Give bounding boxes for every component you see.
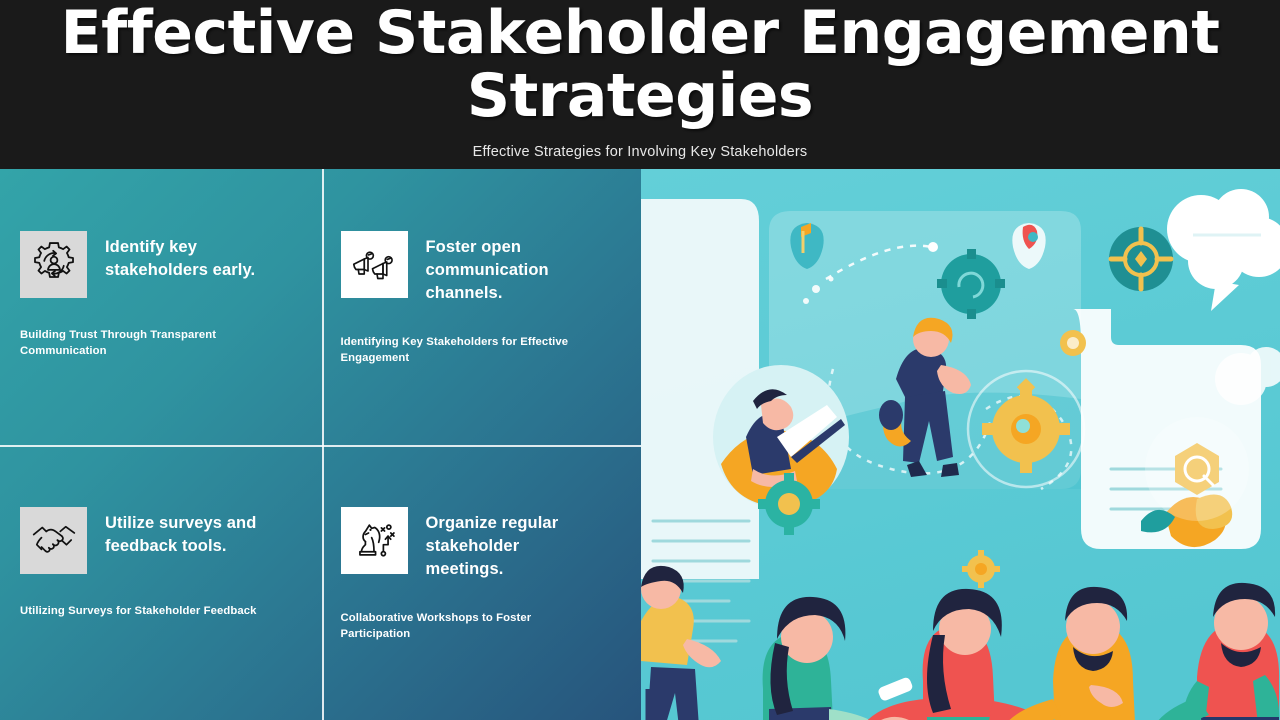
handshake-icon	[20, 507, 87, 574]
card-header-row: Utilize surveys and feedback tools.	[20, 507, 299, 574]
card-header-row: Organize regular stakeholder meetings.	[341, 507, 620, 581]
strategy-card-2[interactable]: Foster open communication channels. Iden…	[321, 169, 642, 445]
page-title: Effective Stakeholder Engagement Strateg…	[50, 2, 1230, 128]
card-caption: Utilizing Surveys for Stakeholder Feedba…	[20, 603, 270, 619]
card-title: Identify key stakeholders early.	[105, 231, 285, 282]
card-title: Organize regular stakeholder meetings.	[426, 507, 586, 581]
card-header-row: Foster open communication channels.	[341, 231, 620, 305]
chess-knight-strategy-icon	[341, 507, 408, 574]
stakeholder-collaboration-illustration	[641, 169, 1280, 720]
slide-header: Effective Stakeholder Engagement Strateg…	[0, 0, 1280, 169]
card-caption: Building Trust Through Transparent Commu…	[20, 327, 270, 359]
strategy-card-3[interactable]: Utilize surveys and feedback tools. Util…	[0, 445, 321, 720]
grid-horizontal-divider	[0, 445, 641, 447]
gear-person-icon	[20, 231, 87, 298]
strategy-card-4[interactable]: Organize regular stakeholder meetings. C…	[321, 445, 642, 720]
slide: Effective Stakeholder Engagement Strateg…	[0, 0, 1280, 720]
card-title: Utilize surveys and feedback tools.	[105, 507, 285, 558]
card-caption: Identifying Key Stakeholders for Effecti…	[341, 334, 591, 366]
strategy-card-1[interactable]: Identify key stakeholders early. Buildin…	[0, 169, 321, 445]
card-header-row: Identify key stakeholders early.	[20, 231, 299, 298]
card-title: Foster open communication channels.	[426, 231, 586, 305]
page-subtitle: Effective Strategies for Involving Key S…	[473, 144, 808, 160]
megaphone-pair-icon	[341, 231, 408, 298]
card-caption: Collaborative Workshops to Foster Partic…	[341, 610, 591, 642]
